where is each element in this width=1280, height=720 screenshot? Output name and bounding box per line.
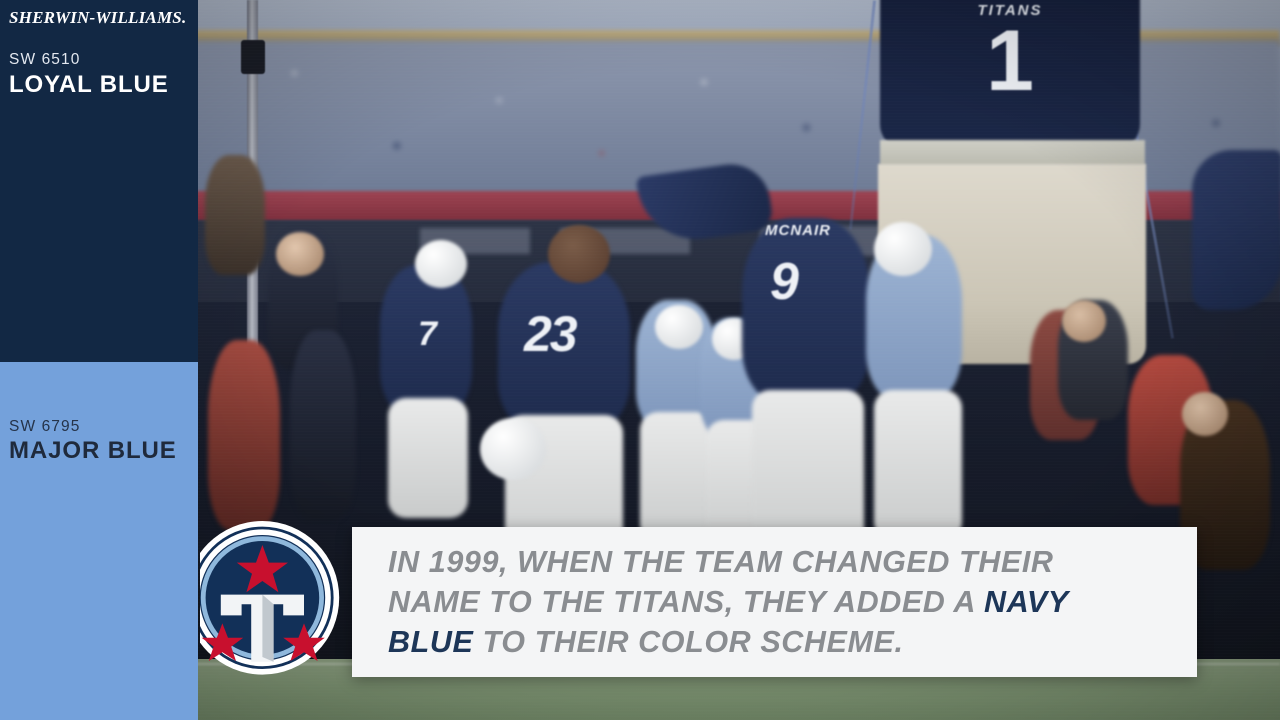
caption-highlight-navy: NAVY bbox=[984, 585, 1069, 619]
caption-line-3: BLUE TO THEIR COLOR SCHEME. bbox=[388, 622, 1069, 662]
swatch-name-loyal-blue: LOYAL BLUE bbox=[9, 71, 169, 99]
sherwin-williams-logo: SHERWIN-WILLIAMS. bbox=[9, 8, 186, 28]
tennessee-titans-logo bbox=[196, 521, 364, 681]
caption-line-1: IN 1999, WHEN THE TEAM CHANGED THEIR bbox=[388, 542, 1069, 582]
swatch-name-major-blue: MAJOR BLUE bbox=[9, 437, 177, 465]
caption-highlight-blue: BLUE bbox=[388, 625, 473, 659]
caption-box: IN 1999, WHEN THE TEAM CHANGED THEIR NAM… bbox=[352, 527, 1197, 677]
caption-line-2: NAME TO THE TITANS, THEY ADDED A NAVY bbox=[388, 582, 1069, 622]
swatch-major-blue bbox=[0, 362, 198, 720]
caption-line-2-text: NAME TO THE TITANS, THEY ADDED A bbox=[388, 585, 984, 619]
video-frame: TITANS 1 7 23 9 MCNAIR bbox=[0, 0, 1280, 720]
caption-text: IN 1999, WHEN THE TEAM CHANGED THEIR NAM… bbox=[352, 542, 1103, 662]
caption-line-3-text: TO THEIR COLOR SCHEME. bbox=[473, 625, 903, 659]
swatch-code-major-blue: SW 6795 bbox=[9, 418, 80, 436]
swatch-code-loyal-blue: SW 6510 bbox=[9, 51, 80, 69]
color-swatch-sidebar: SHERWIN-WILLIAMS. SW 6510 LOYAL BLUE SW … bbox=[0, 0, 198, 720]
